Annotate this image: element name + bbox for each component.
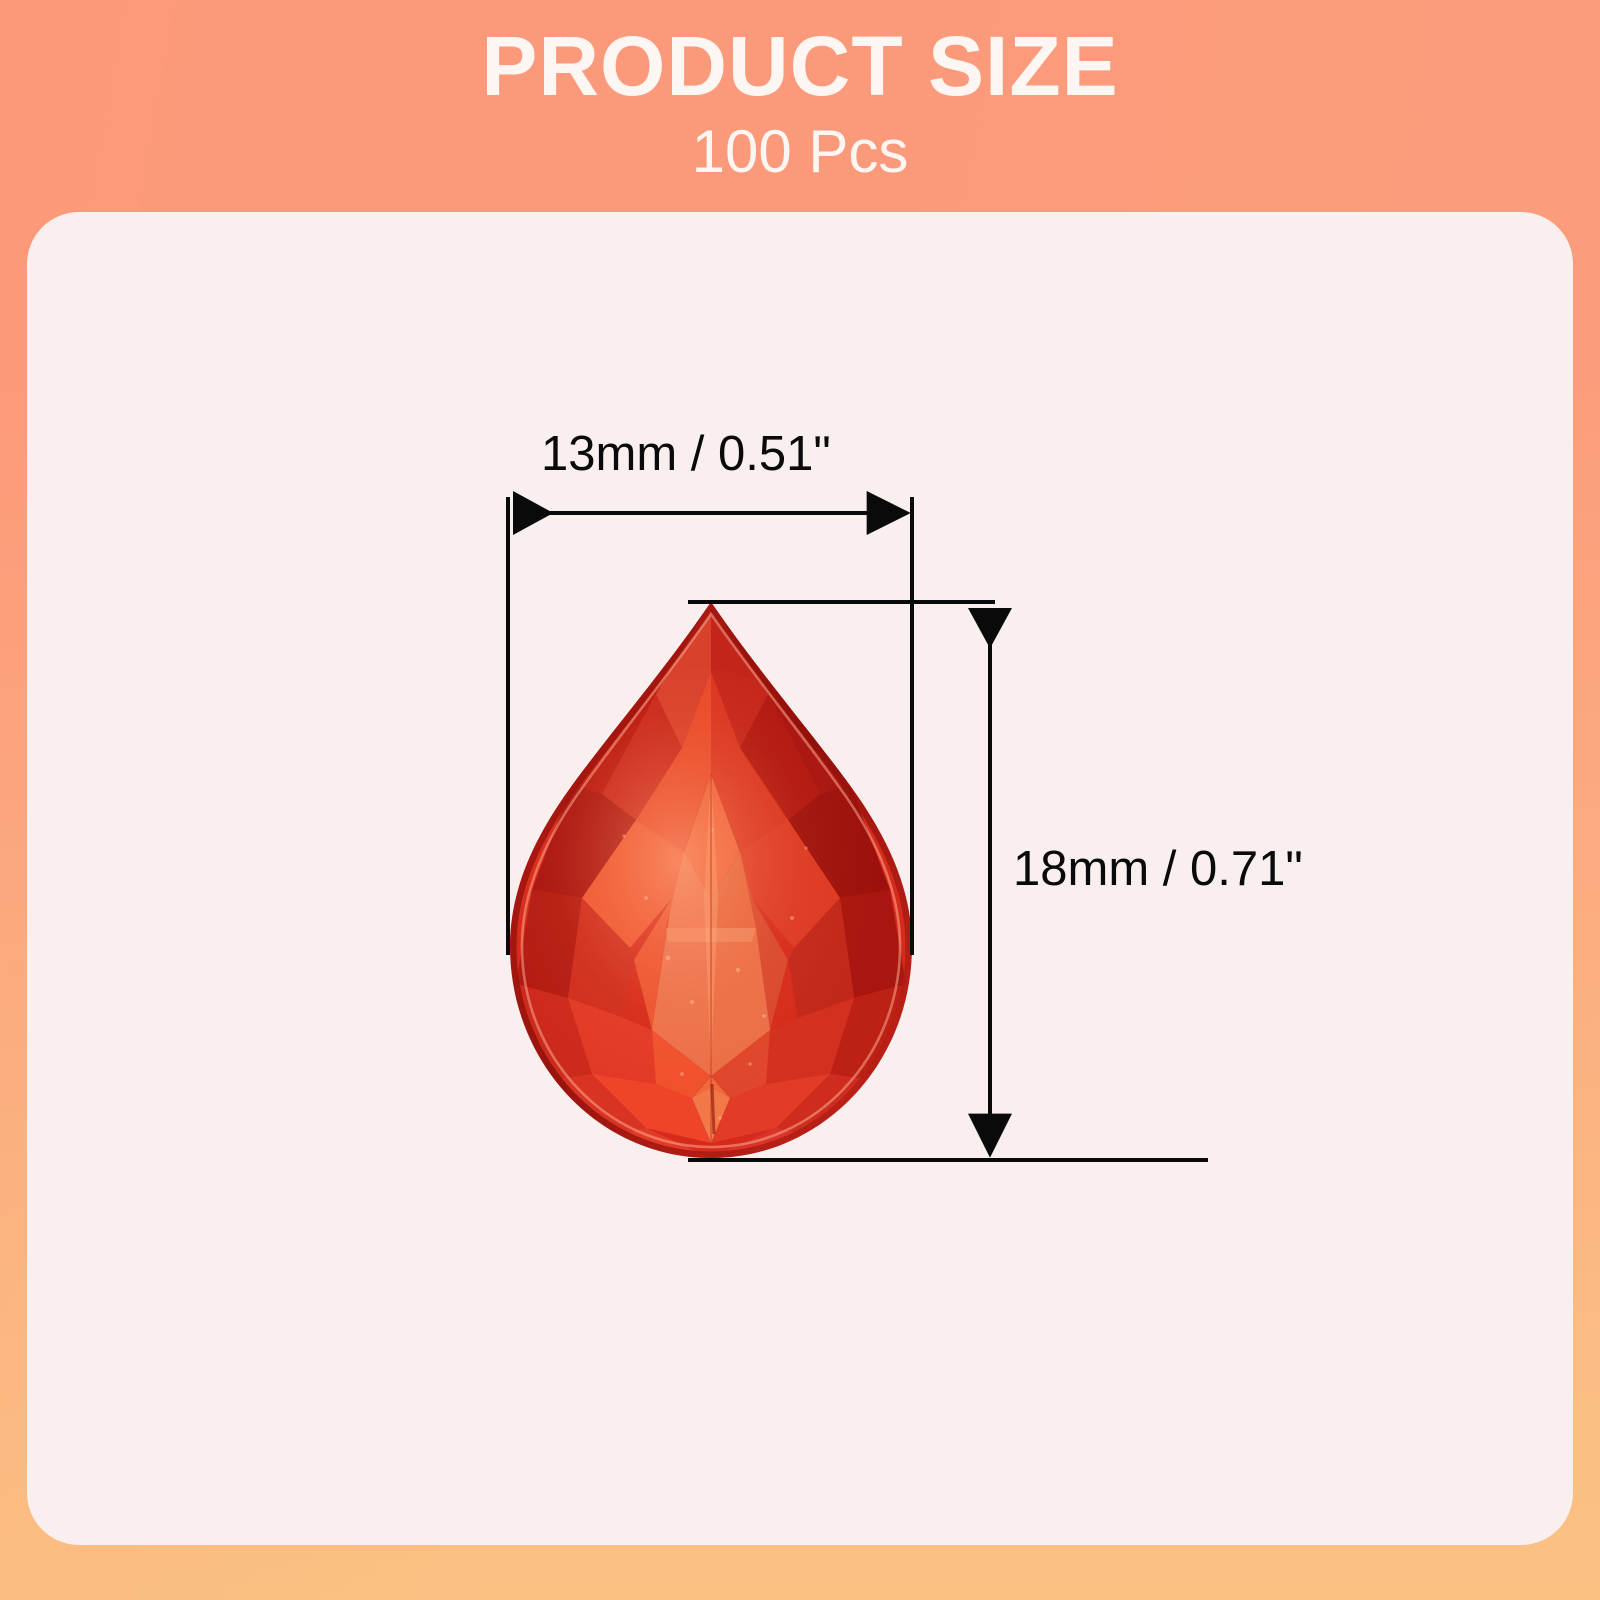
page-title: PRODUCT SIZE [0,0,1600,108]
height-dimension-label: 18mm / 0.71" [1013,845,1303,894]
header: PRODUCT SIZE 100 Pcs [0,0,1600,182]
product-image-pear-rhinestone [506,598,916,1164]
width-dimension-label: 13mm / 0.51" [541,430,831,479]
product-size-infographic: PRODUCT SIZE 100 Pcs [0,0,1600,1600]
quantity-subtitle: 100 Pcs [0,108,1600,182]
